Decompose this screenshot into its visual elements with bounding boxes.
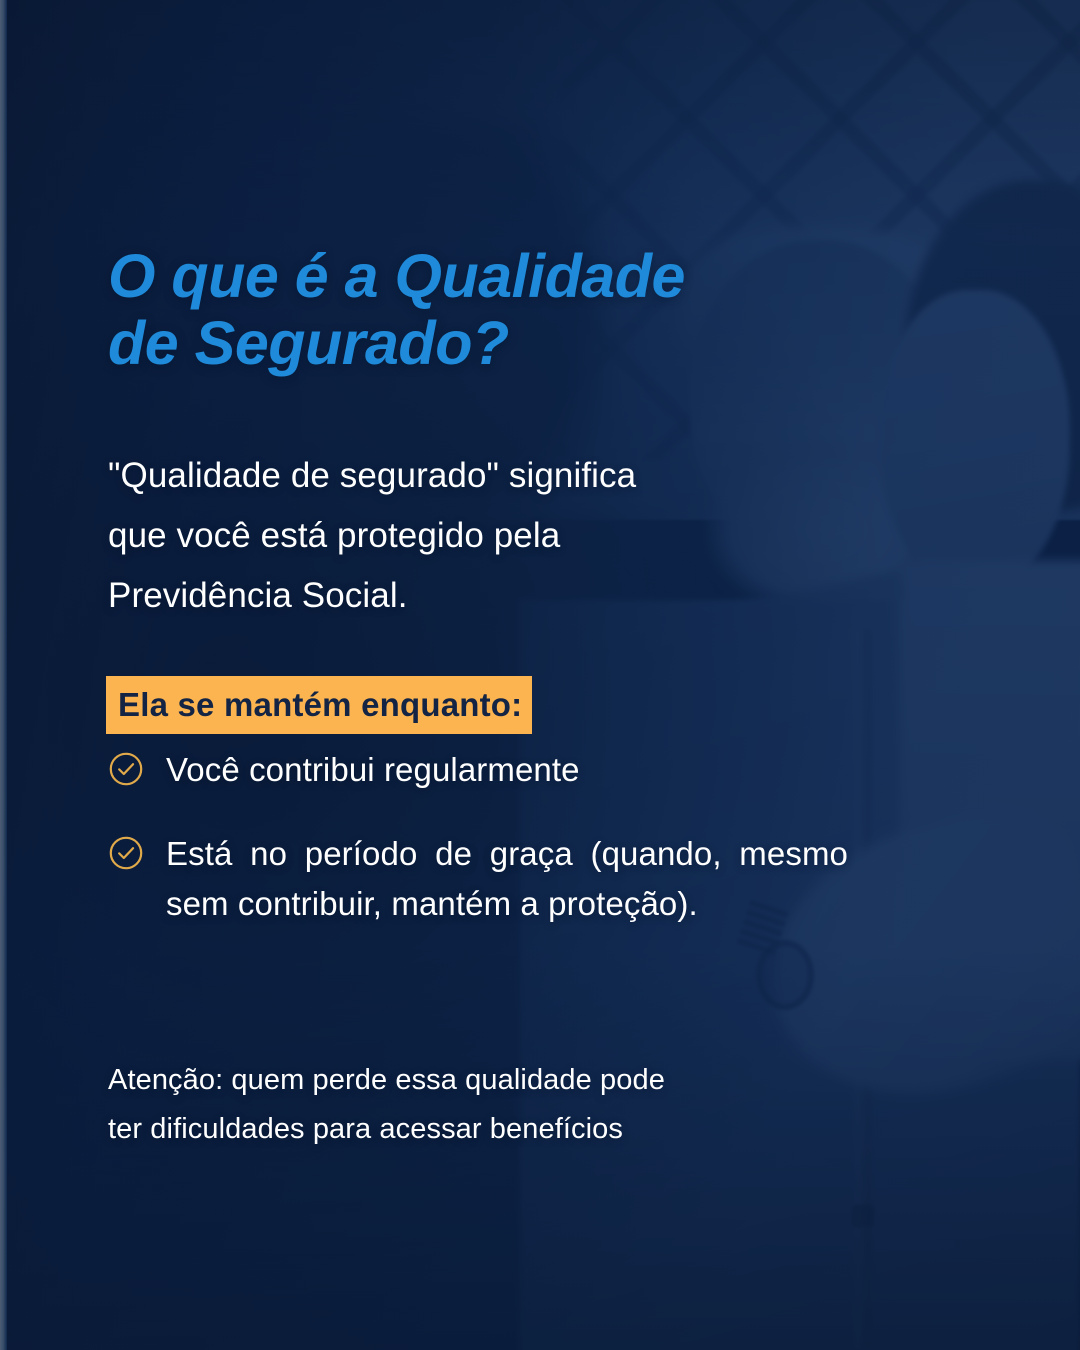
- lead-paragraph: "Qualidade de segurado" significa que vo…: [108, 446, 808, 627]
- check-circle-icon: [108, 751, 144, 787]
- footnote-line-2: ter dificuldades para acessar benefícios: [108, 1105, 830, 1154]
- content-layer: O que é a Qualidade de Segurado? "Qualid…: [0, 0, 1080, 1350]
- highlight-banner: Ela se mantém enquanto:: [106, 676, 532, 734]
- footnote-line-1: Atenção: quem perde essa qualidade pode: [108, 1056, 830, 1105]
- check-circle-icon: [108, 835, 144, 871]
- list-item: Você contribui regularmente: [108, 745, 848, 795]
- list-item-label: Você contribui regularmente: [166, 745, 848, 795]
- highlight-label: Ela se mantém enquanto:: [106, 676, 532, 734]
- bullet-list: Você contribui regularmente Está no perí…: [108, 745, 848, 963]
- list-item: Está no período de graça (quando, mesmo …: [108, 829, 848, 929]
- list-item-label: Está no período de graça (quando, mesmo …: [166, 829, 848, 929]
- page-title: O que é a Qualidade de Segurado?: [108, 243, 848, 377]
- footnote: Atenção: quem perde essa qualidade pode …: [108, 1056, 830, 1153]
- social-post-card: O que é a Qualidade de Segurado? "Qualid…: [0, 0, 1080, 1350]
